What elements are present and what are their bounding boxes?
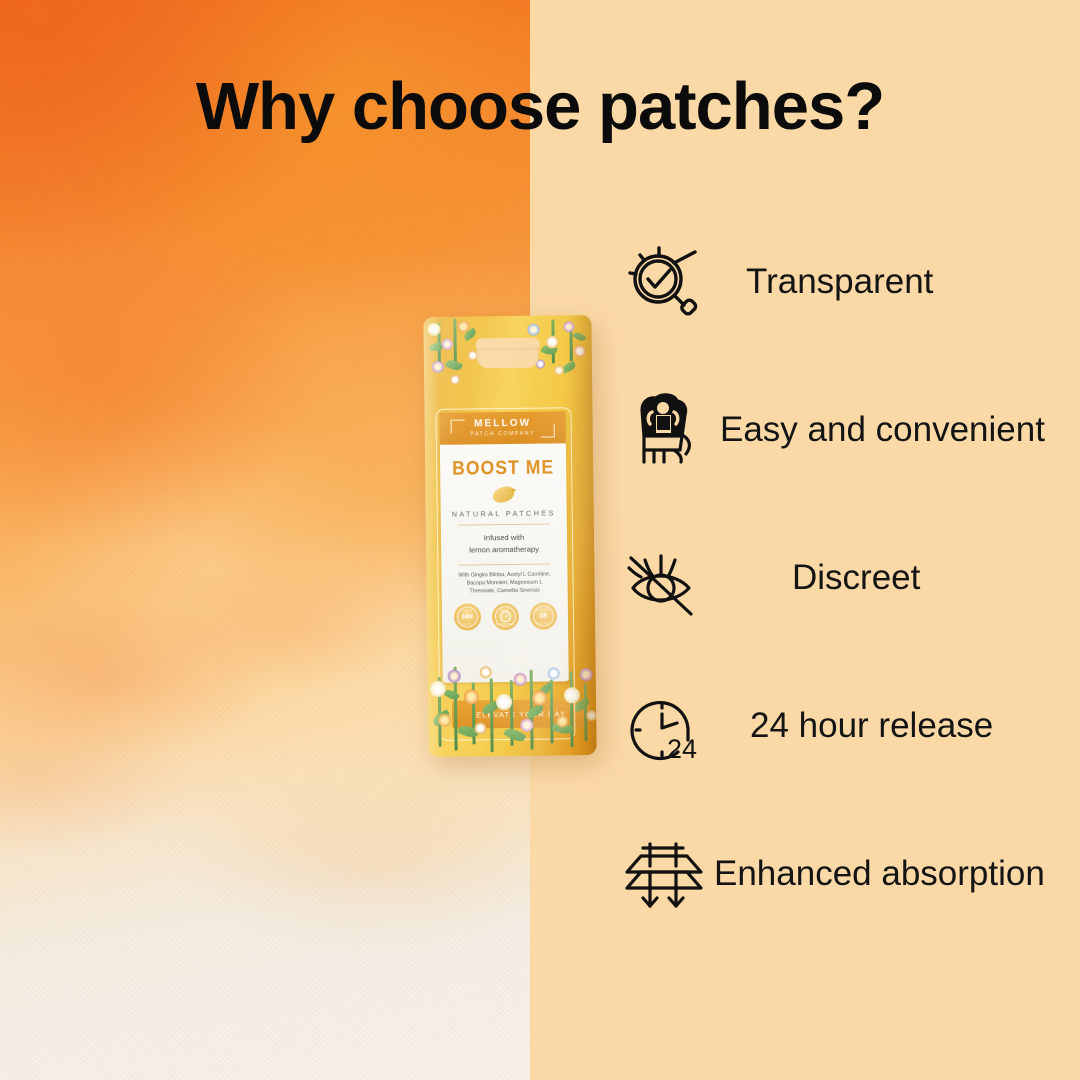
feature-item-enhanced-absorption: Enhanced absorption	[616, 824, 1080, 924]
brand-bar: MELLOW PATCH COMPANY	[439, 411, 565, 445]
feature-item-24-hour-release: 24 24 hour release	[616, 676, 1080, 776]
ingredients-text: With Gingko Biloba, Acetyl L Carnitine, …	[453, 570, 555, 596]
badge-row: LASTS 24H UP TO FAST ABSORBING NATURAL 1…	[442, 602, 568, 631]
page-title: Why choose patches?	[0, 68, 1080, 145]
badge-bottom-label: ABSORBING	[492, 622, 519, 626]
hanger-hole	[477, 346, 539, 369]
infused-line-2: lemon aromatherapy	[441, 543, 567, 557]
svg-text:24: 24	[667, 734, 697, 764]
brand-corner-left-icon	[451, 420, 465, 434]
badge-bottom-label: UP TO	[454, 622, 481, 626]
divider-top	[458, 524, 550, 526]
package-side-panel	[565, 315, 596, 755]
divider-bottom	[458, 564, 550, 566]
badge-top-label: NATURAL	[529, 607, 556, 611]
feature-label: Transparent	[746, 262, 933, 302]
feature-label: Easy and convenient	[720, 410, 1045, 450]
feature-label: Discreet	[792, 558, 920, 598]
clock-24-icon: 24	[616, 678, 712, 774]
badge-lasts-24h: LASTS 24H UP TO	[453, 603, 480, 630]
feature-item-discreet: Discreet	[616, 528, 1080, 628]
badge-natural-patches: NATURAL 18 PATCHES	[529, 602, 556, 629]
feature-list: Transparent Easy an	[616, 232, 1080, 924]
layers-absorption-arrows-icon	[616, 826, 712, 922]
product-name: BOOST ME	[445, 457, 561, 480]
feature-item-transparent: Transparent	[616, 232, 1080, 332]
eye-slash-icon	[616, 530, 712, 626]
lemon-icon	[491, 485, 516, 504]
infused-text: Infused with lemon aromatherapy	[441, 531, 567, 557]
stopwatch-icon	[499, 611, 510, 622]
product-package: MELLOW PATCH COMPANY BOOST ME NATURAL PA…	[423, 315, 596, 757]
brand-subtitle: PATCH COMPANY	[470, 432, 535, 438]
package-body: MELLOW PATCH COMPANY BOOST ME NATURAL PA…	[423, 315, 596, 757]
badge-top-label: LASTS	[453, 608, 480, 612]
product-subtitle: NATURAL PATCHES	[441, 508, 567, 519]
marketing-graphic: Why choose patches?	[0, 0, 1080, 1080]
magnifier-check-icon	[616, 234, 712, 330]
brand-corner-right-icon	[541, 423, 555, 437]
badge-fast-absorbing: FAST ABSORBING	[491, 603, 518, 630]
badge-bottom-label: PATCHES	[530, 621, 557, 625]
person-relaxing-chair-icon	[616, 382, 712, 478]
feature-item-easy-convenient: Easy and convenient	[616, 380, 1080, 480]
feature-label: Enhanced absorption	[714, 854, 1045, 894]
brand-name: MELLOW	[474, 419, 531, 430]
feature-label: 24 hour release	[750, 706, 993, 746]
